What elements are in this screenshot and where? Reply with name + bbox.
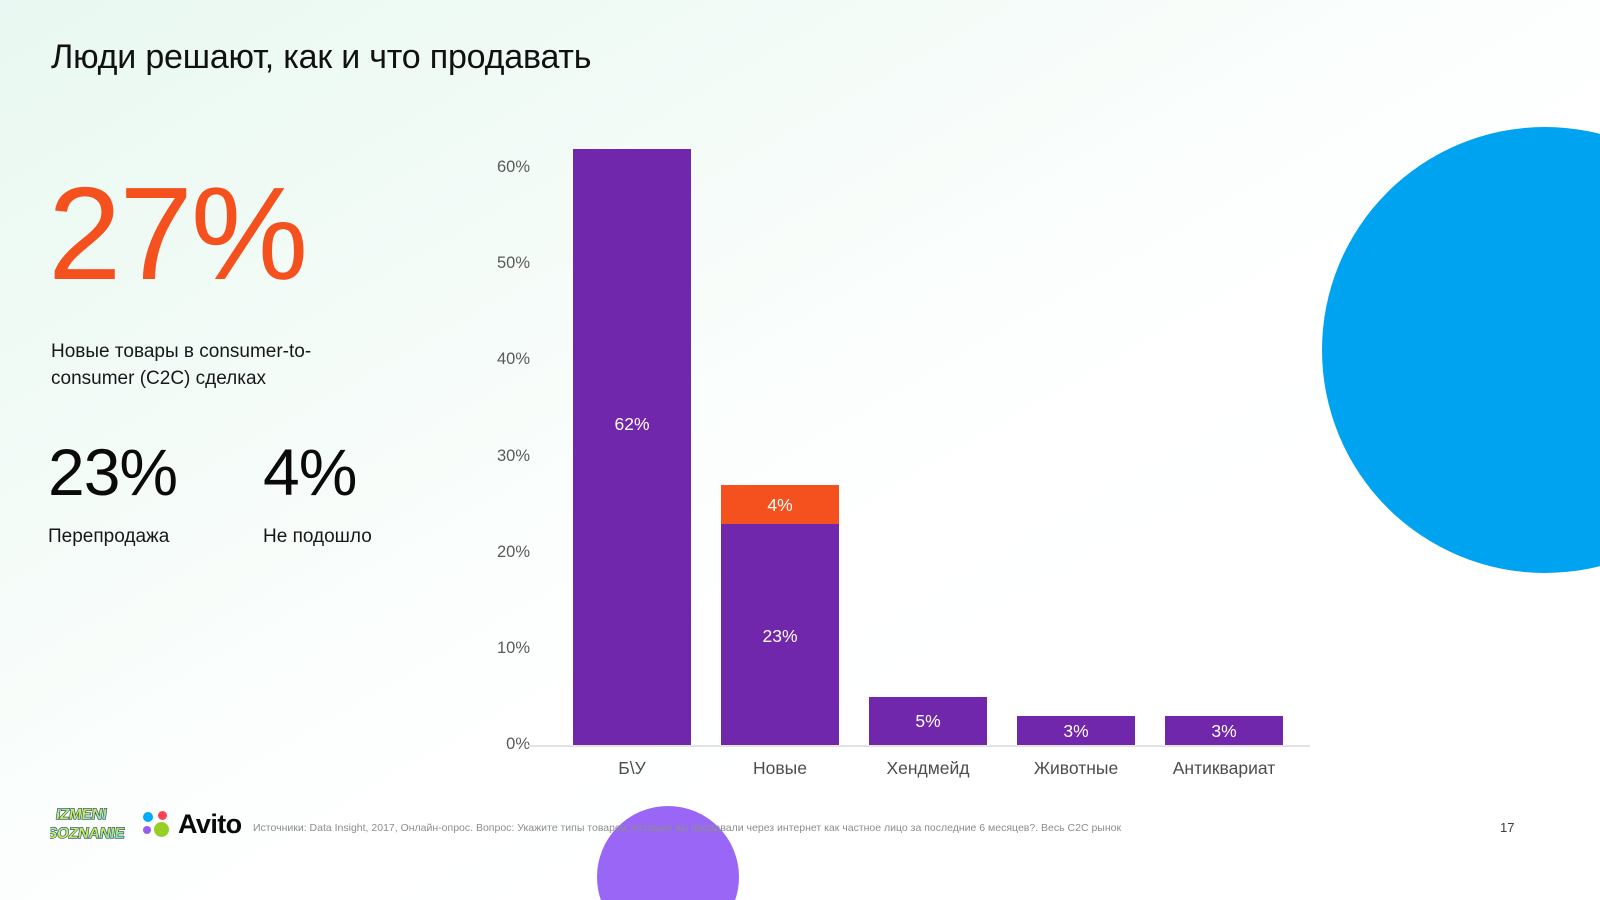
- bar-segment[interactable]: 3%: [1017, 716, 1135, 745]
- bar-segment[interactable]: 62%: [573, 149, 691, 745]
- y-axis-tick-label: 20%: [470, 543, 530, 562]
- bar-segment[interactable]: 23%: [721, 524, 839, 745]
- bar-value-label: 3%: [1211, 722, 1236, 740]
- y-axis-tick-label: 0%: [470, 735, 530, 754]
- x-axis-tick-label: Хендмейд: [854, 758, 1002, 779]
- bar-value-label: 62%: [614, 415, 649, 433]
- kpi-secondary-label: Перепродажа: [48, 526, 177, 548]
- x-axis-tick-label: Новые: [706, 758, 854, 779]
- kpi-secondary-label: Не подошло: [263, 526, 372, 548]
- bar-group[interactable]: 5%: [869, 697, 987, 745]
- avito-logo: Avito: [143, 808, 242, 840]
- kpi-secondary-item: 4% Не подошло: [263, 438, 372, 548]
- bar-value-label: 4%: [767, 496, 792, 514]
- y-axis-tick-label: 50%: [470, 254, 530, 273]
- bar-group[interactable]: 3%: [1017, 716, 1135, 745]
- x-axis-line: [528, 745, 1310, 747]
- bar-group[interactable]: 62%: [573, 149, 691, 745]
- bar-chart: 0%10%20%30%40%50%60% 62%23%4%5%3%3% Б\УН…: [470, 120, 1310, 780]
- page-number: 17: [1500, 820, 1514, 835]
- kpi-secondary-value: 23%: [48, 438, 177, 506]
- bar-value-label: 5%: [915, 712, 940, 730]
- bar-value-label: 23%: [762, 627, 797, 645]
- bar-segment[interactable]: 3%: [1165, 716, 1283, 745]
- bar-segment[interactable]: 5%: [869, 697, 987, 745]
- y-axis-tick-label: 60%: [470, 158, 530, 177]
- page-title: Люди решают, как и что продавать: [51, 38, 591, 77]
- svg-text:IZMENI: IZMENI: [55, 806, 108, 823]
- avito-wordmark: Avito: [178, 809, 242, 840]
- kpi-secondary-item: 23% Перепродажа: [48, 438, 177, 548]
- svg-text:SOZNANIE: SOZNANIE: [50, 825, 125, 842]
- kpi-headline-value: 27%: [48, 168, 306, 300]
- slide-canvas: Люди решают, как и что продавать 27% Нов…: [0, 0, 1600, 900]
- kpi-headline-caption: Новые товары в consumer-to-consumer (C2C…: [51, 338, 391, 392]
- izmeni-soznanie-logo: IZMENI SOZNANIE: [50, 800, 125, 846]
- bar-group[interactable]: 23%4%: [721, 485, 839, 745]
- y-axis-tick-label: 40%: [470, 350, 530, 369]
- y-axis-tick-label: 10%: [470, 639, 530, 658]
- bar-segment[interactable]: 4%: [721, 485, 839, 523]
- y-axis-tick-label: 30%: [470, 447, 530, 466]
- bar-value-label: 3%: [1063, 722, 1088, 740]
- kpi-secondary-value: 4%: [263, 438, 372, 506]
- source-note: Источники: Data Insight, 2017, Онлайн-оп…: [253, 821, 1121, 835]
- x-axis-tick-label: Антиквариат: [1150, 758, 1298, 779]
- chart-plot-area: 62%23%4%5%3%3%: [558, 120, 1298, 745]
- x-axis-tick-label: Животные: [1002, 758, 1150, 779]
- x-axis-tick-label: Б\У: [558, 758, 706, 779]
- avito-dots-icon: [143, 811, 169, 837]
- decorative-blue-circle: [1322, 127, 1600, 573]
- bar-group[interactable]: 3%: [1165, 716, 1283, 745]
